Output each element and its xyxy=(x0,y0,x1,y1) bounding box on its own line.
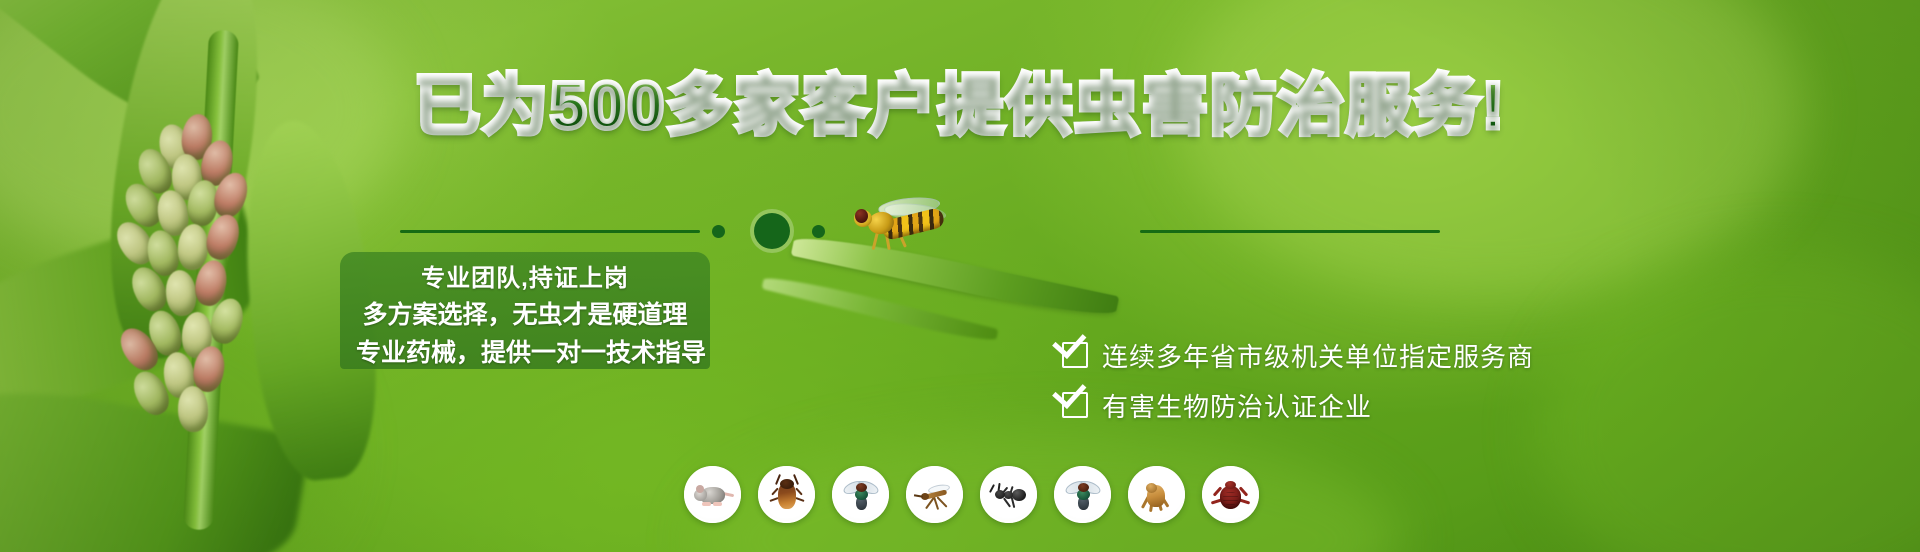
panel-line-3: 专业药械，提供一对一技术指导 xyxy=(356,334,694,372)
divider-line-right xyxy=(1140,230,1440,233)
panel-line-1: 专业团队,持证上岗 xyxy=(356,261,694,296)
pest-icon-row xyxy=(684,466,1259,523)
selling-points-panel: 专业团队,持证上岗 多方案选择，无虫才是硬道理 专业药械，提供一对一技术指导 xyxy=(340,252,710,369)
flea-icon[interactable] xyxy=(1128,466,1185,523)
checkbox-checked-icon xyxy=(1062,392,1088,418)
checklist-item-2: 有害生物防治认证企业 xyxy=(1062,380,1534,430)
fly-icon[interactable] xyxy=(1054,466,1111,523)
bedbug-icon[interactable] xyxy=(1202,466,1259,523)
pest-control-banner: 已为500多家客户提供虫害防治服务! 专业团队,持证上岗 多方案选择，无虫才是硬… xyxy=(0,0,1920,552)
checklist-item-2-label: 有害生物防治认证企业 xyxy=(1102,387,1372,424)
divider-line-left xyxy=(400,230,700,233)
banner-headline: 已为500多家客户提供虫害防治服务! xyxy=(0,72,1920,138)
housefly-icon[interactable] xyxy=(832,466,889,523)
divider-dot-small-1 xyxy=(712,225,725,238)
cockroach-icon[interactable] xyxy=(758,466,815,523)
flower-buds xyxy=(120,120,350,420)
headline-divider xyxy=(0,218,1920,244)
panel-line-2: 多方案选择，无虫才是硬道理 xyxy=(356,296,694,334)
rat-icon[interactable] xyxy=(684,466,741,523)
checklist-item-1: 连续多年省市级机关单位指定服务商 xyxy=(1062,330,1534,380)
divider-dot-large xyxy=(754,213,790,249)
mosquito-icon[interactable] xyxy=(906,466,963,523)
banner-headline-text: 已为500多家客户提供虫害防治服务! xyxy=(414,68,1506,142)
ant-icon[interactable] xyxy=(980,466,1037,523)
divider-dot-small-2 xyxy=(812,225,825,238)
credentials-checklist: 连续多年省市级机关单位指定服务商 有害生物防治认证企业 xyxy=(1062,330,1534,430)
checklist-item-1-label: 连续多年省市级机关单位指定服务商 xyxy=(1102,337,1534,374)
checkbox-checked-icon xyxy=(1062,342,1088,368)
